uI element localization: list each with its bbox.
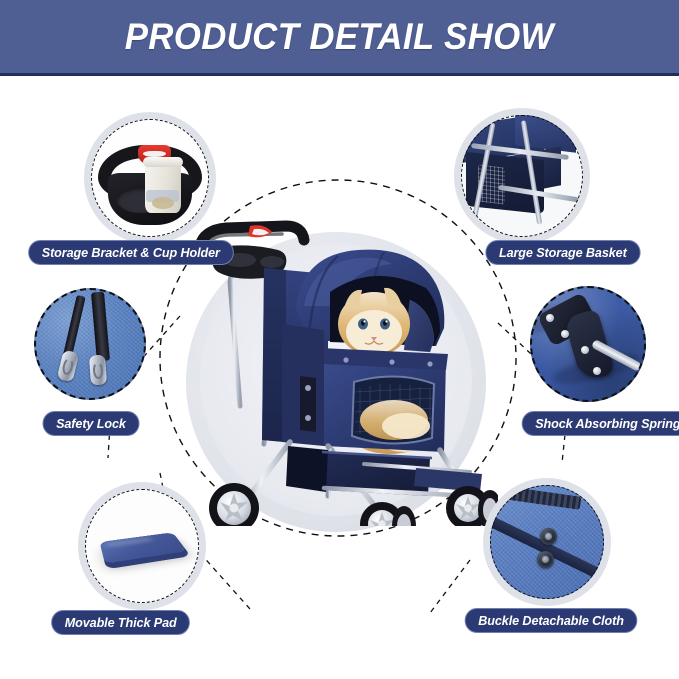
infographic-canvas: PRODUCT DETAIL SHOW: [0, 0, 679, 679]
shock-spring-photo: [530, 286, 646, 402]
header-banner: PRODUCT DETAIL SHOW: [0, 0, 679, 73]
callout-large-storage-basket[interactable]: [454, 108, 590, 244]
page-title: PRODUCT DETAIL SHOW: [125, 16, 554, 58]
safety-lock-photo: [34, 288, 146, 400]
callout-storage-bracket-cup-holder[interactable]: [84, 112, 216, 244]
callout-shock-absorbing-spring[interactable]: [530, 286, 646, 402]
callout-buckle-detachable-cloth[interactable]: [483, 478, 611, 606]
callout-movable-thick-pad[interactable]: [78, 482, 206, 610]
buckle-cloth-photo: [490, 485, 604, 599]
storage-bracket-photo: [91, 119, 209, 237]
callout-safety-lock[interactable]: [34, 288, 146, 400]
thick-pad-photo: [85, 489, 199, 603]
label-large-storage-basket[interactable]: Large Storage Basket: [485, 240, 640, 265]
header-divider: [0, 73, 679, 76]
label-safety-lock[interactable]: Safety Lock: [42, 411, 139, 436]
label-buckle-detachable-cloth[interactable]: Buckle Detachable Cloth: [465, 608, 638, 633]
label-movable-thick-pad[interactable]: Movable Thick Pad: [51, 610, 190, 635]
label-storage-bracket-cup-holder[interactable]: Storage Bracket & Cup Holder: [28, 240, 233, 265]
label-shock-absorbing-spring[interactable]: Shock Absorbing Spring: [522, 411, 679, 436]
storage-basket-photo: [461, 115, 583, 237]
